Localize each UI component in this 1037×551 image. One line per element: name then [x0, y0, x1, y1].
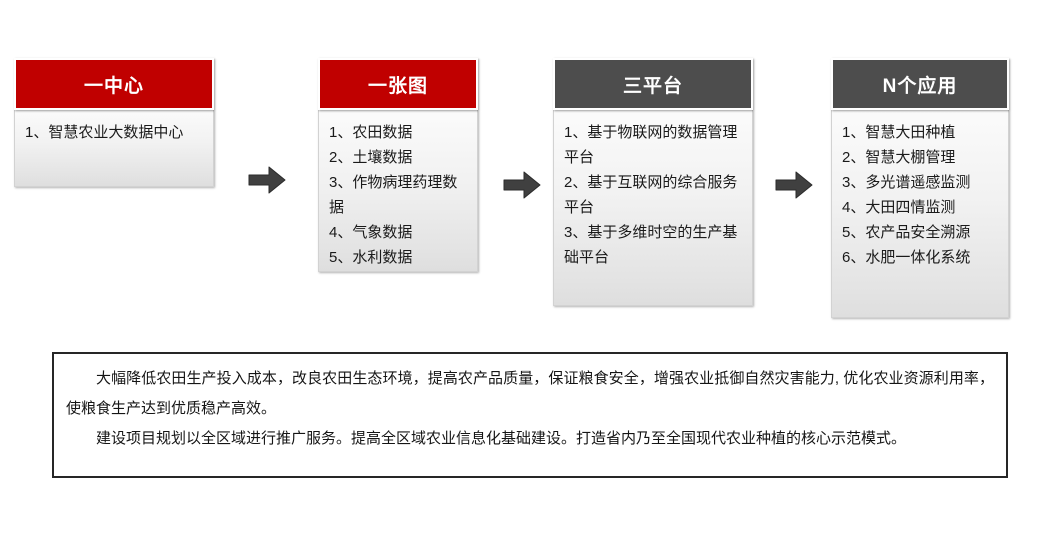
card-map-item-1: 1、农田数据 — [329, 120, 467, 145]
card-platform-body: 1、基于物联网的数据管理平台 2、基于互联网的综合服务平台 3、基于多维时空的生… — [553, 110, 753, 306]
right-arrow-icon — [500, 168, 544, 202]
card-platform-header: 三平台 — [553, 58, 753, 110]
card-map-item-4: 4、气象数据 — [329, 220, 467, 245]
card-map-body: 1、农田数据 2、土壤数据 3、作物病理药理数据 4、气象数据 5、水利数据 — [318, 110, 478, 272]
summary-paragraph-1: 大幅降低农田生产投入成本，改良农田生态环境，提高农产品质量，保证粮食安全，增强农… — [66, 364, 994, 424]
card-map-item-2: 2、土壤数据 — [329, 145, 467, 170]
summary-box: 大幅降低农田生产投入成本，改良农田生态环境，提高农产品质量，保证粮食安全，增强农… — [52, 352, 1008, 478]
card-apps-item-1: 1、智慧大田种植 — [842, 120, 998, 145]
right-arrow-icon — [772, 168, 816, 202]
card-center-body: 1、智慧农业大数据中心 — [14, 110, 214, 187]
card-apps-body: 1、智慧大田种植 2、智慧大棚管理 3、多光谱遥感监测 4、大田四情监测 5、农… — [831, 110, 1009, 318]
card-center-item-1: 1、智慧农业大数据中心 — [25, 120, 203, 145]
card-map-item-3: 3、作物病理药理数据 — [329, 170, 467, 220]
card-platform-item-1: 1、基于物联网的数据管理平台 — [564, 120, 742, 170]
card-apps-item-3: 3、多光谱遥感监测 — [842, 170, 998, 195]
card-map-header: 一张图 — [318, 58, 478, 110]
card-apps-header: N个应用 — [831, 58, 1009, 110]
right-arrow-icon — [245, 163, 289, 197]
card-platform-item-2: 2、基于互联网的综合服务平台 — [564, 170, 742, 220]
card-apps-item-4: 4、大田四情监测 — [842, 195, 998, 220]
diagram-canvas: 一中心 1、智慧农业大数据中心 一张图 1、农田数据 2、土壤数据 3、作物病理… — [0, 0, 1037, 551]
card-center-header: 一中心 — [14, 58, 214, 110]
summary-paragraph-2: 建设项目规划以全区域进行推广服务。提高全区域农业信息化基础建设。打造省内乃至全国… — [66, 424, 994, 454]
card-apps-item-2: 2、智慧大棚管理 — [842, 145, 998, 170]
card-platform-item-3: 3、基于多维时空的生产基础平台 — [564, 220, 742, 270]
card-map-item-5: 5、水利数据 — [329, 245, 467, 270]
card-apps-item-5: 5、农产品安全溯源 — [842, 220, 998, 245]
card-apps-item-6: 6、水肥一体化系统 — [842, 245, 998, 270]
